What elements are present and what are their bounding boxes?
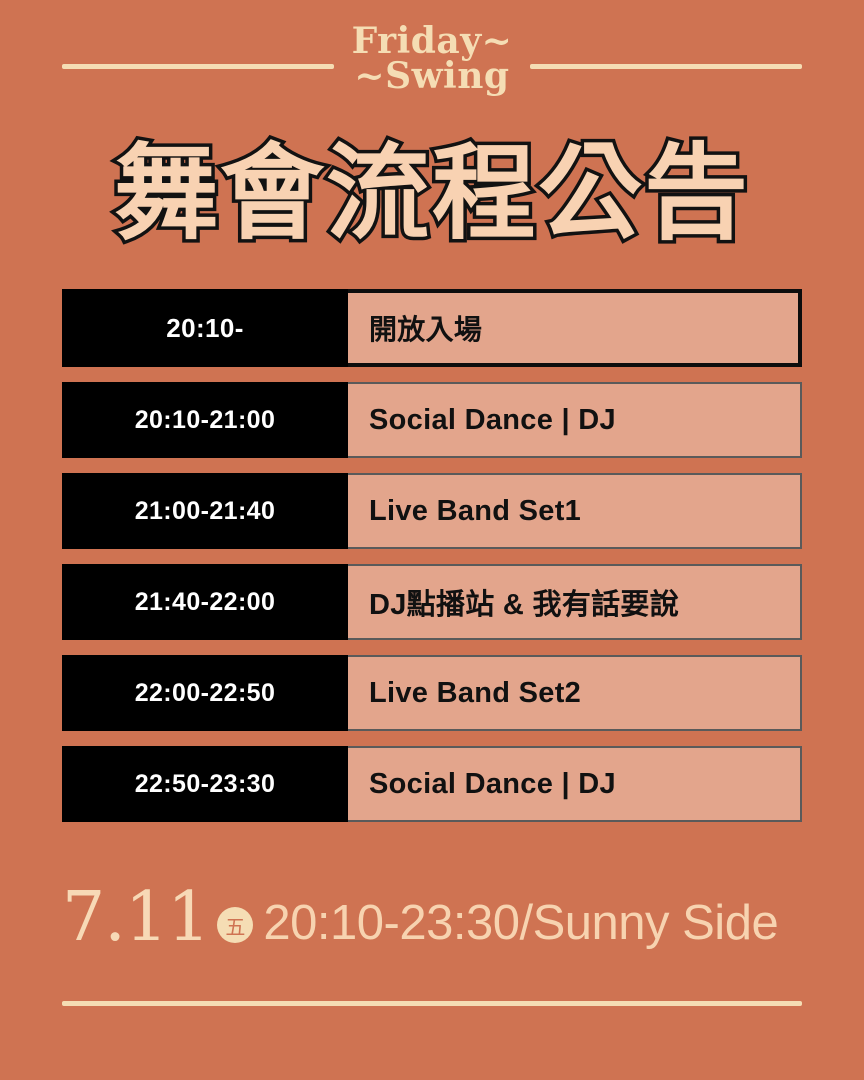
schedule-time: 20:10- <box>62 289 348 367</box>
schedule-time: 22:50-23:30 <box>62 746 348 822</box>
brand-logo-line1: Friday~ <box>0 24 864 59</box>
schedule-description: 開放入場 <box>348 289 802 367</box>
table-row: 20:10- 開放入場 <box>62 289 802 367</box>
brand-logo-line2: ~Swing <box>0 59 864 94</box>
schedule-description: Live Band Set2 <box>348 655 802 731</box>
brand-logo: Friday~ ~Swing <box>0 24 864 94</box>
schedule-description: DJ點播站 & 我有話要說 <box>348 564 802 640</box>
header: Friday~ ~Swing <box>0 0 864 130</box>
weekday-badge: 五 <box>217 907 253 943</box>
schedule-time: 22:00-22:50 <box>62 655 348 731</box>
table-row: 21:00-21:40 Live Band Set1 <box>62 473 802 549</box>
table-row: 20:10-21:00 Social Dance | DJ <box>62 382 802 458</box>
table-row: 22:50-23:30 Social Dance | DJ <box>62 746 802 822</box>
event-time-venue: 20:10-23:30/Sunny Side <box>263 899 778 948</box>
schedule-time: 21:40-22:00 <box>62 564 348 640</box>
schedule-time: 21:00-21:40 <box>62 473 348 549</box>
page-title: 舞會流程公告 <box>0 141 864 245</box>
footer-rule <box>62 1001 802 1006</box>
table-row: 22:00-22:50 Live Band Set2 <box>62 655 802 731</box>
schedule-description: Social Dance | DJ <box>348 746 802 822</box>
schedule-description: Live Band Set1 <box>348 473 802 549</box>
event-footer: 7.11 五 20:10-23:30/Sunny Side <box>62 884 822 952</box>
schedule-table: 20:10- 開放入場 20:10-21:00 Social Dance | D… <box>62 289 802 822</box>
table-row: 21:40-22:00 DJ點播站 & 我有話要說 <box>62 564 802 640</box>
schedule-time: 20:10-21:00 <box>62 382 348 458</box>
event-date: 7.11 <box>62 884 209 952</box>
schedule-description: Social Dance | DJ <box>348 382 802 458</box>
